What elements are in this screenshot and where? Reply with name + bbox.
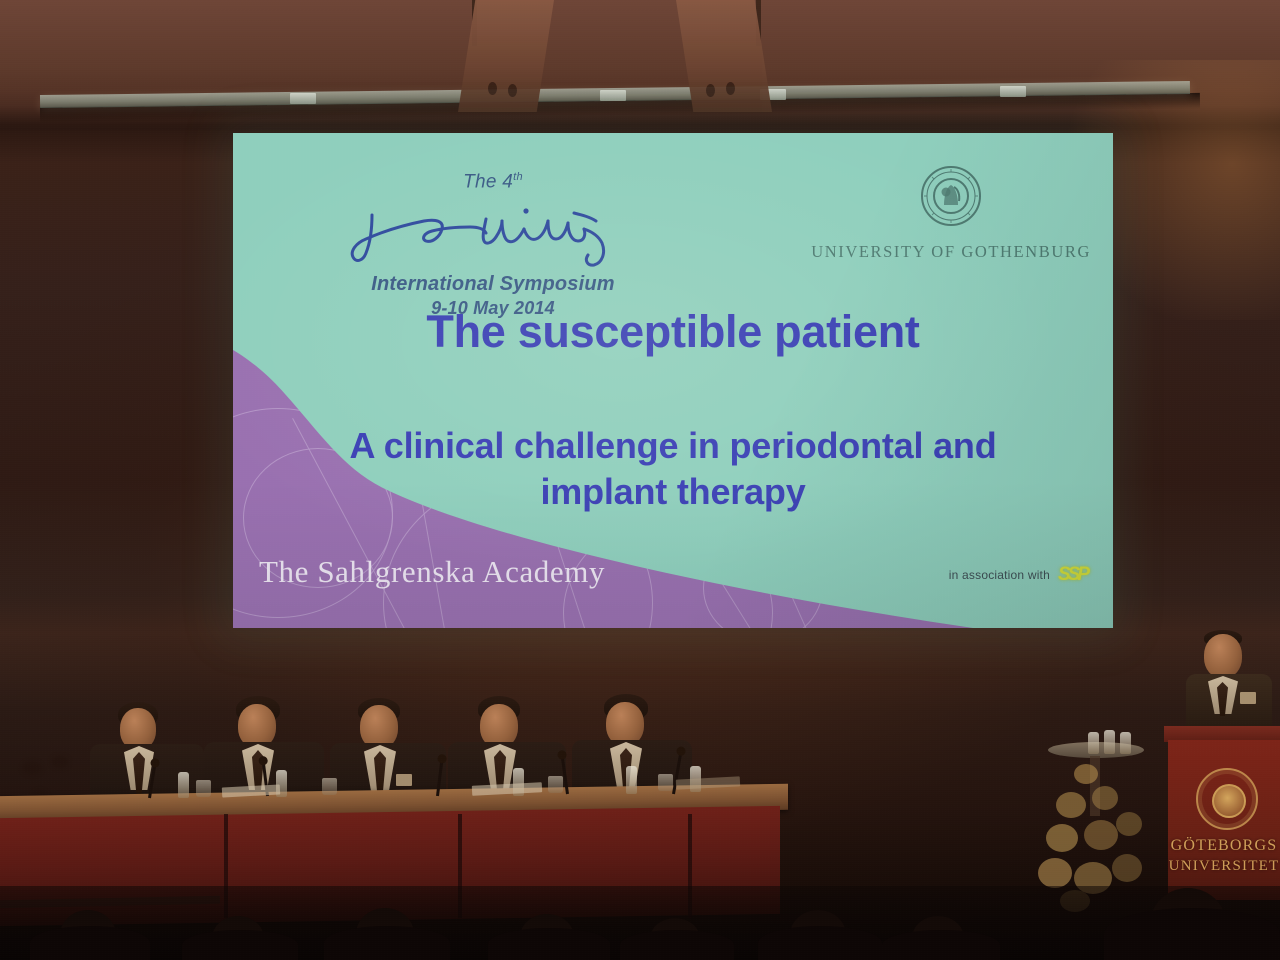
audience-silhouette <box>882 930 1000 960</box>
water-bottle <box>1088 732 1099 754</box>
symposium-ordinal: The 4th <box>328 171 658 193</box>
symposium-identity-block: The 4th <box>328 171 658 319</box>
faculty-name: The Sahlgrenska Academy <box>259 554 605 590</box>
water-bottle <box>1120 732 1131 754</box>
audience-silhouette <box>324 926 450 960</box>
light-fixture <box>290 93 316 104</box>
slide-main-title: The susceptible patient <box>233 306 1113 358</box>
presentation-slide: The 4th <box>233 133 1113 628</box>
audience-silhouette <box>30 926 150 960</box>
slide-sub-title: A clinical challenge in periodontal and … <box>295 423 1051 515</box>
audience-silhouette <box>1104 908 1280 960</box>
water-bottle <box>626 766 637 794</box>
university-name: UNIVERSITY OF GOTHENBURG <box>811 242 1091 262</box>
symposium-name: International Symposium <box>328 273 658 296</box>
drinking-glass <box>196 780 211 797</box>
gothenburg-university-seal-icon <box>1196 768 1258 830</box>
lindhe-signature <box>328 195 658 269</box>
projection-screen: The 4th <box>233 133 1113 628</box>
conference-hall-photo: The 4th <box>0 0 1280 960</box>
drinking-glass <box>322 778 337 795</box>
audience-silhouette <box>620 930 734 960</box>
name-badge <box>396 774 412 786</box>
audience-silhouette <box>758 926 882 960</box>
audience-silhouette <box>488 928 610 960</box>
partner-logo: SSP <box>1058 564 1087 586</box>
water-bottle <box>178 772 189 798</box>
association-block: in association with SSP <box>949 564 1087 586</box>
name-badge <box>1240 692 1256 704</box>
light-fixture <box>1000 86 1026 97</box>
association-label: in association with <box>949 568 1050 582</box>
university-seal-icon <box>811 165 1091 232</box>
audience-silhouette <box>182 930 298 960</box>
water-bottle <box>1104 730 1115 754</box>
drinking-glass <box>658 774 673 791</box>
university-identity-block: UNIVERSITY OF GOTHENBURG <box>811 165 1091 262</box>
drinking-glass <box>548 776 563 793</box>
audience-foreground <box>0 840 1280 960</box>
speaker-at-lectern <box>1186 630 1272 734</box>
light-fixture <box>600 90 626 101</box>
